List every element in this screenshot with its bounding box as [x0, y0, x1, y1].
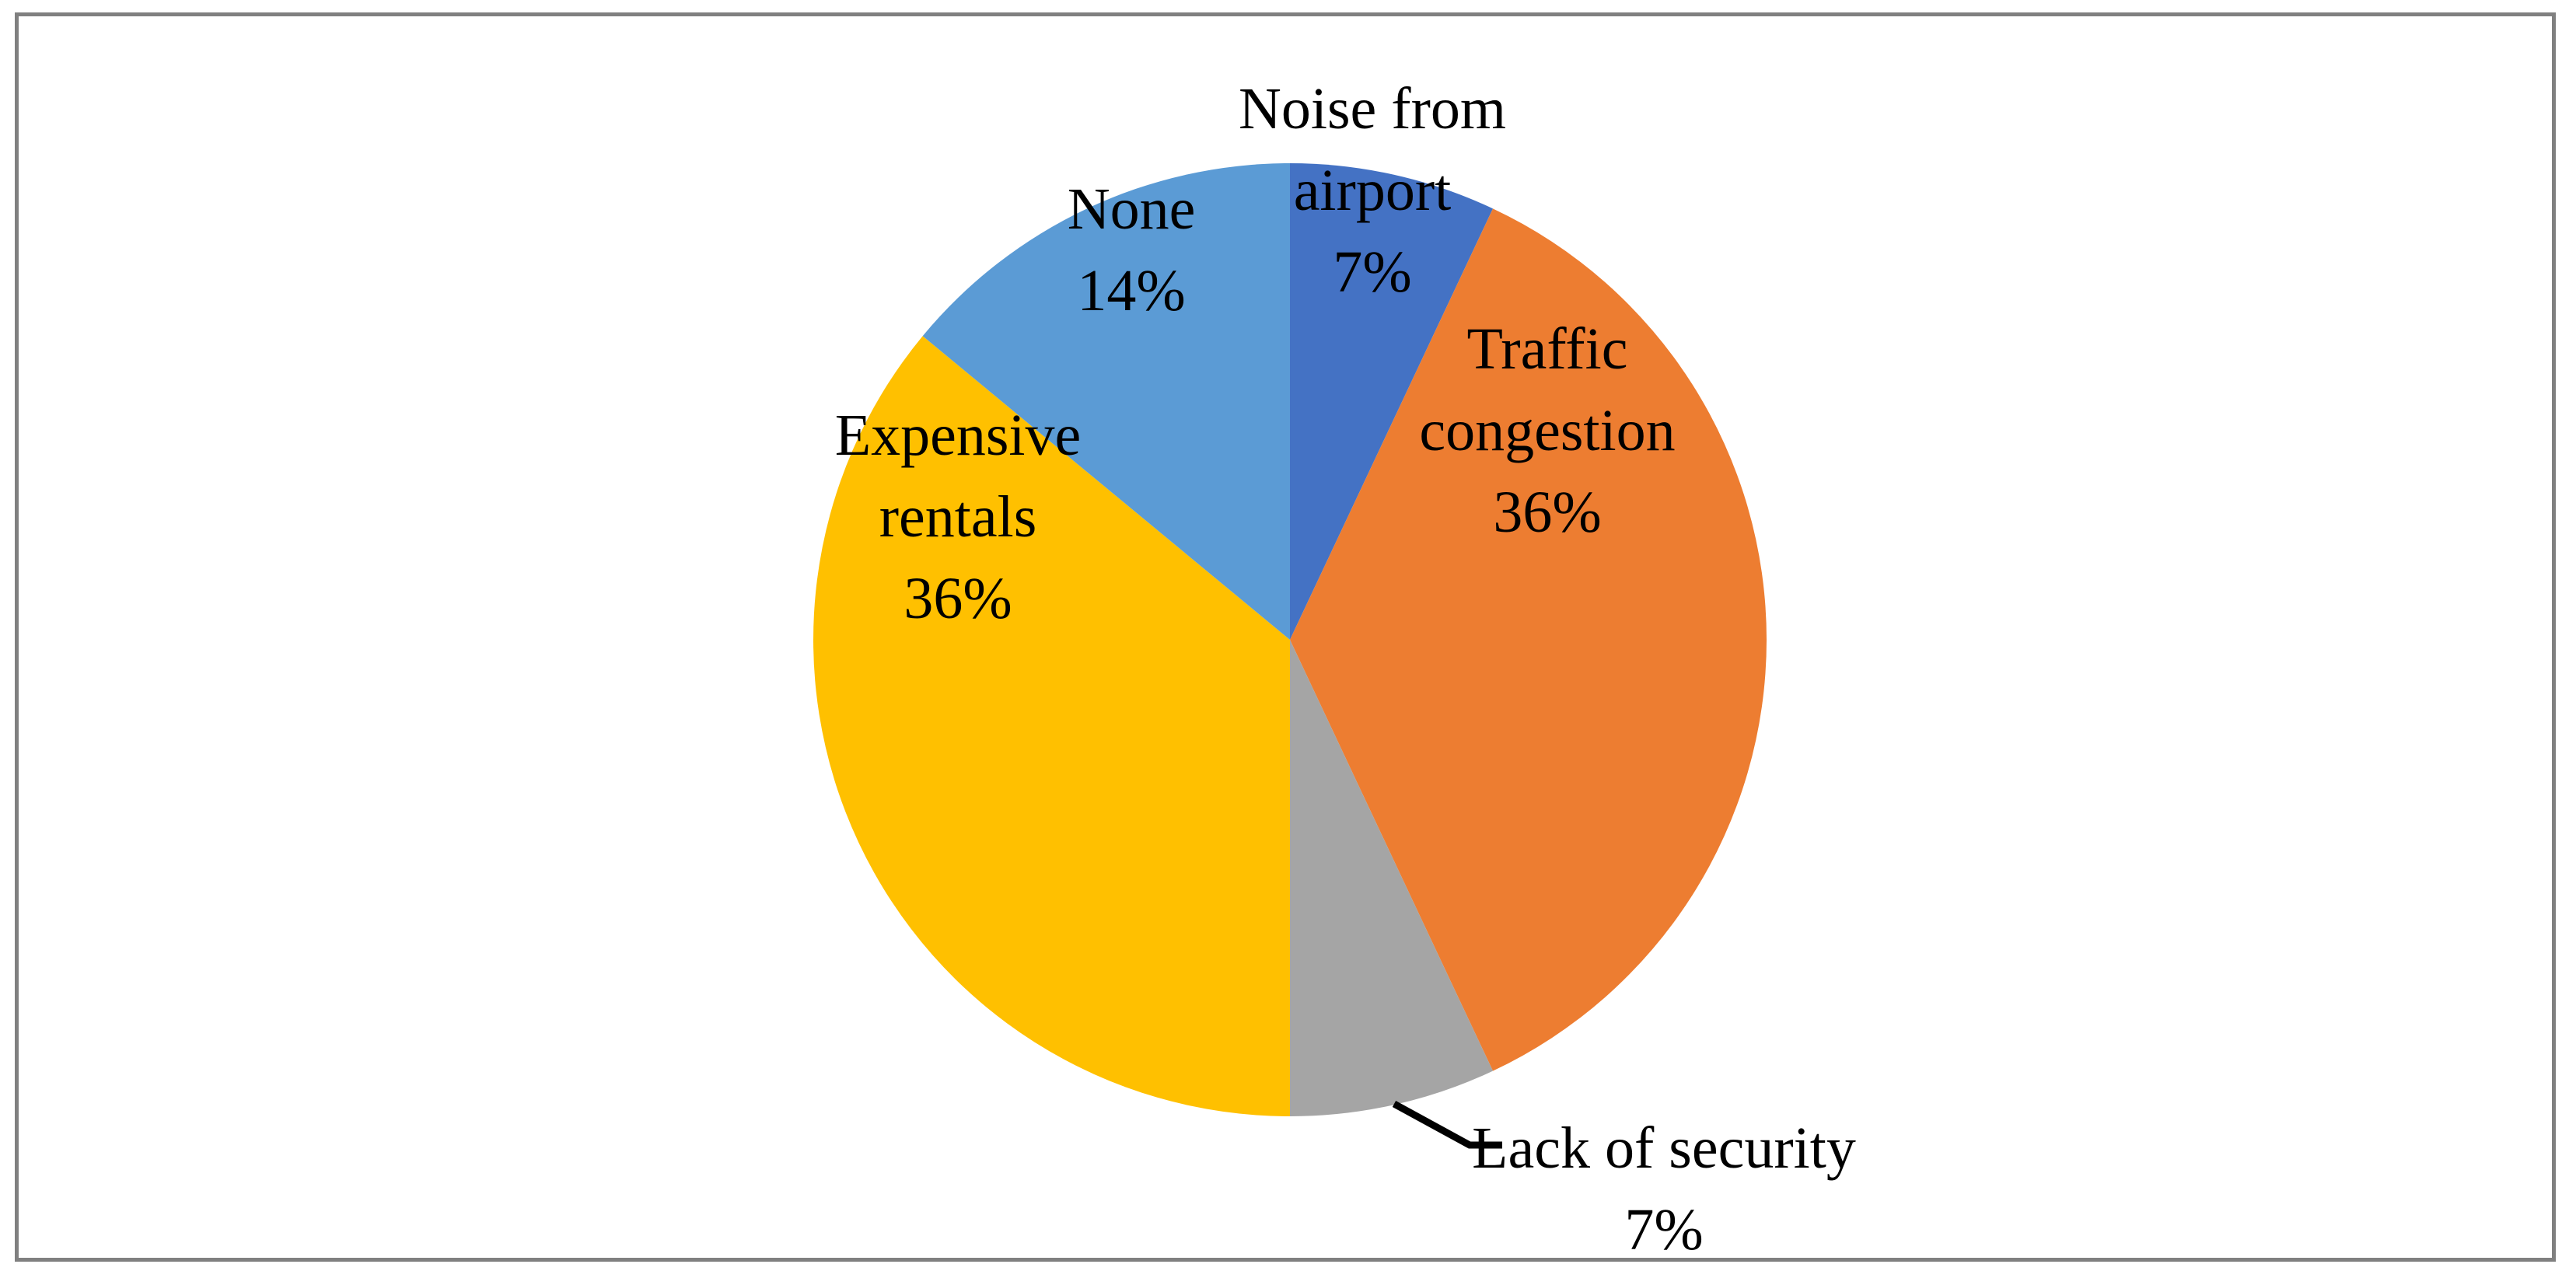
pie-label-rentals-value: 36% [835, 558, 1082, 640]
pie-label-traffic-line2: congestion [1419, 390, 1675, 472]
pie-label-none-line1: None [1068, 169, 1196, 250]
pie-label-expensive-rentals: Expensive rentals 36% [835, 395, 1082, 640]
pie-label-noise-from-airport: Noise from airport 7% [1239, 68, 1506, 313]
pie-label-rentals-line2: rentals [835, 477, 1082, 558]
pie-label-noise-line1: Noise from [1239, 68, 1506, 150]
pie-label-none: None 14% [1068, 169, 1196, 332]
pie-chart-plot-area: Noise from airport 7% Traffic congestion… [0, 0, 2576, 1278]
pie-label-noise-line2: airport [1239, 150, 1506, 232]
pie-label-traffic-value: 36% [1419, 472, 1675, 553]
pie-label-security-line1: Lack of security [1472, 1108, 1856, 1189]
pie-label-noise-value: 7% [1239, 232, 1506, 313]
pie-label-security-value: 7% [1472, 1189, 1856, 1271]
pie-label-none-value: 14% [1068, 250, 1196, 332]
pie-label-traffic-congestion: Traffic congestion 36% [1419, 309, 1675, 553]
pie-label-rentals-line1: Expensive [835, 395, 1082, 477]
pie-label-traffic-line1: Traffic [1419, 309, 1675, 390]
pie-label-lack-of-security: Lack of security 7% [1472, 1108, 1856, 1271]
